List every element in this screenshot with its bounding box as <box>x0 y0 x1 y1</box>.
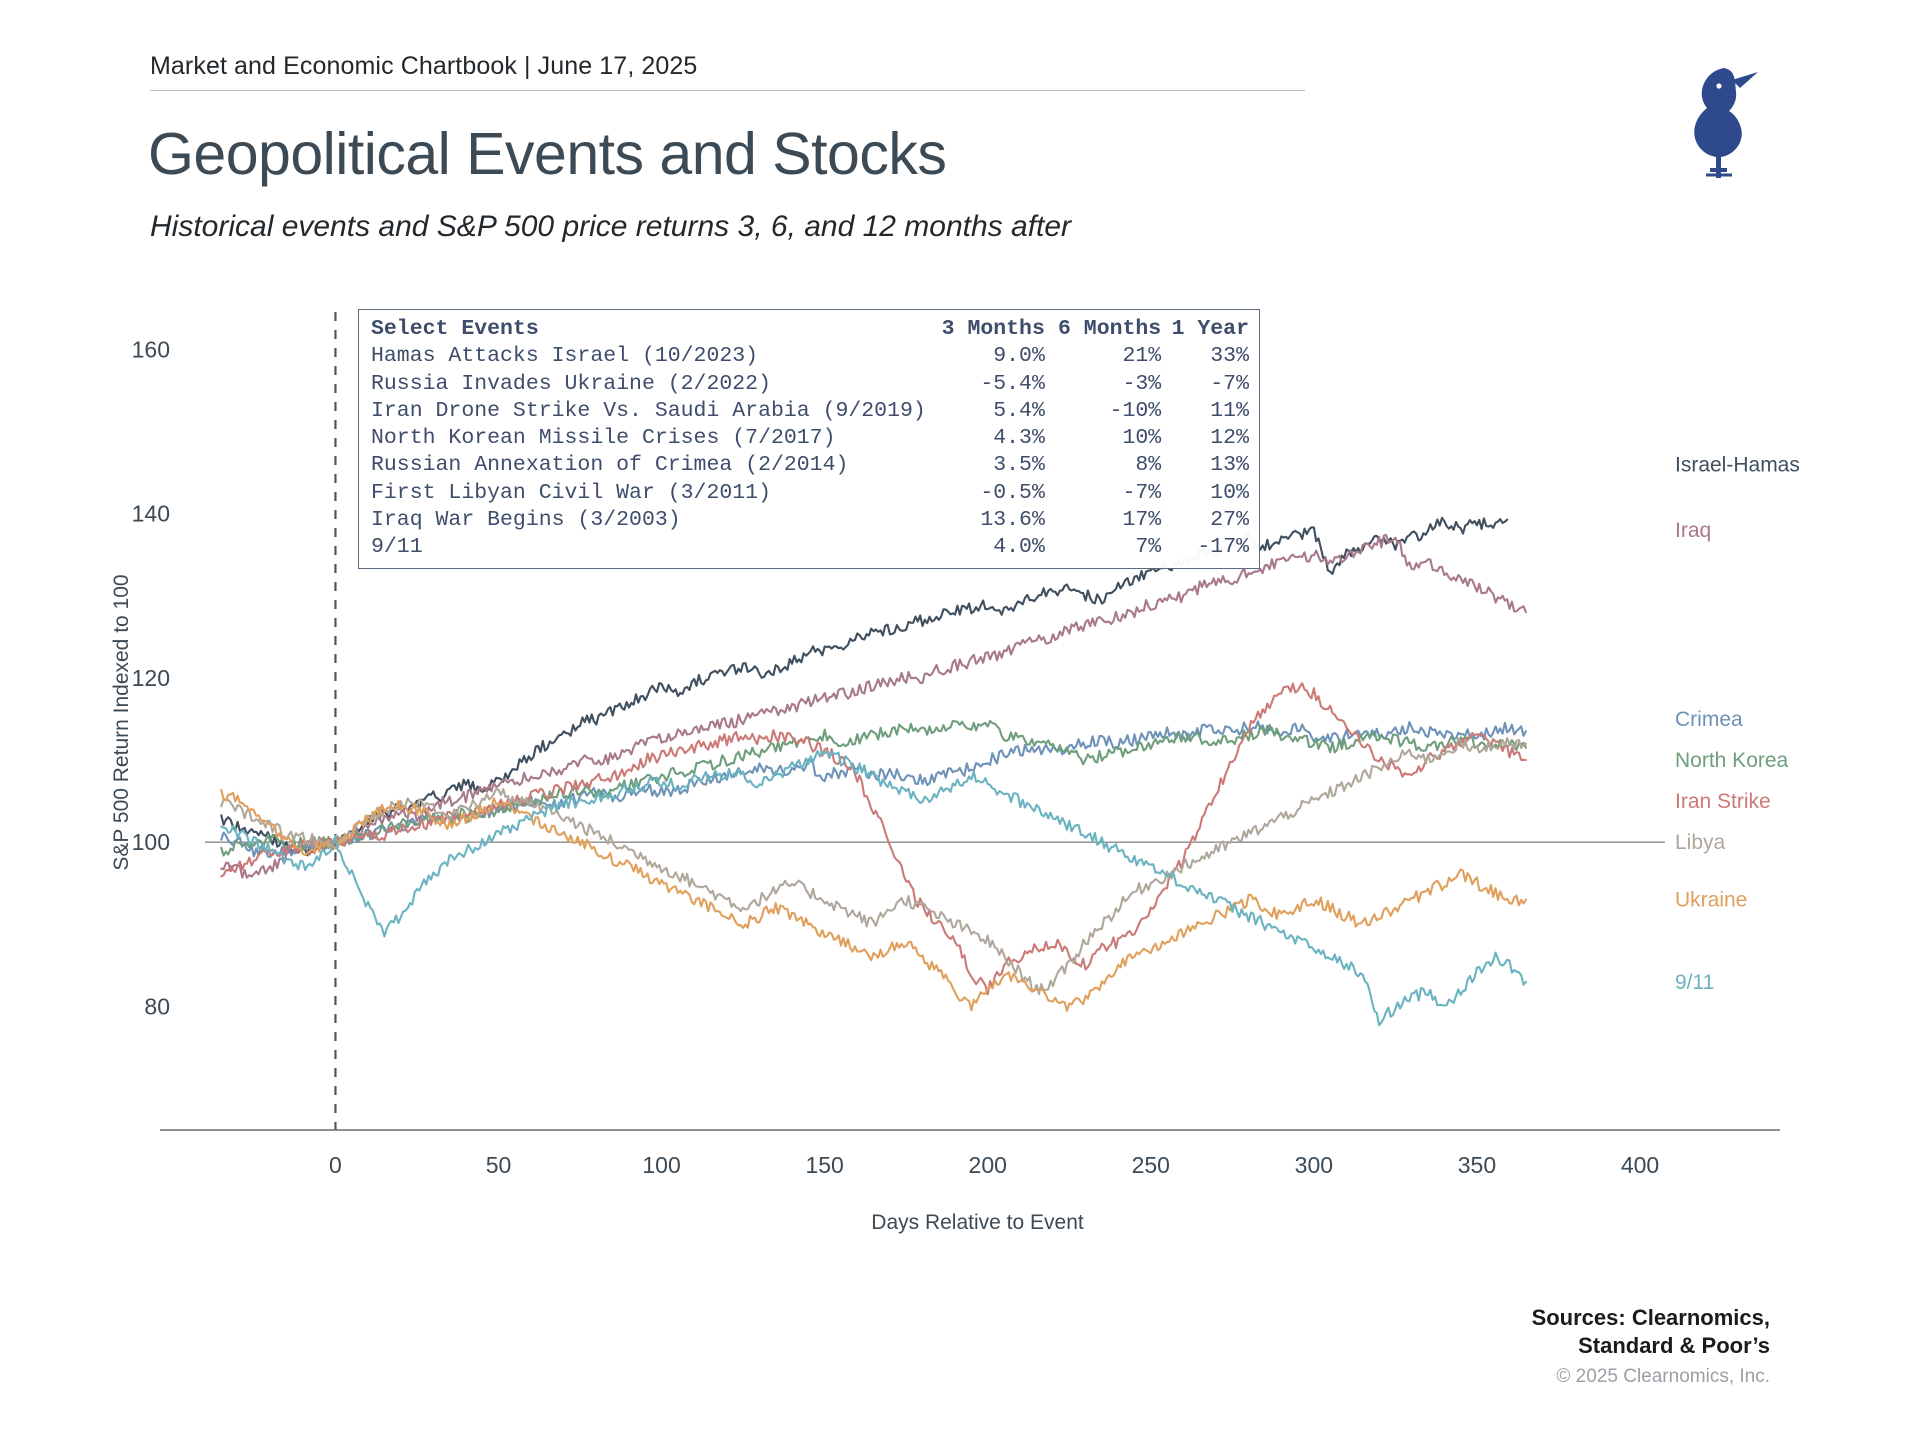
y-tick-label: 120 <box>132 665 170 691</box>
header-band: Market and Economic Chartbook | June 17,… <box>150 52 1305 91</box>
series-label-ukraine: Ukraine <box>1675 889 1747 912</box>
series-label-libya: Libya <box>1675 831 1726 854</box>
series-label-israel-hamas: Israel-Hamas <box>1675 453 1800 476</box>
y-tick-label: 100 <box>132 829 170 855</box>
table-row: Iran Drone Strike Vs. Saudi Arabia (9/20… <box>371 398 1249 425</box>
series-label-north-korea: North Korea <box>1675 749 1789 772</box>
cell-event: Iran Drone Strike Vs. Saudi Arabia (9/20… <box>371 398 926 425</box>
cell-m6: 21% <box>1045 343 1161 370</box>
table-row: First Libyan Civil War (3/2011)-0.5%-7%1… <box>371 480 1249 507</box>
x-axis-title: Days Relative to Event <box>871 1211 1084 1234</box>
series-label-9-11: 9/11 <box>1675 971 1714 994</box>
y-tick-label: 160 <box>132 336 170 362</box>
series-line-ukraine <box>221 790 1526 1011</box>
cell-m3: 3.5% <box>926 452 1045 479</box>
cell-event: 9/11 <box>371 534 926 561</box>
col-header-1-year: 1 Year <box>1161 316 1249 343</box>
events-table-body: Hamas Attacks Israel (10/2023)9.0%21%33%… <box>371 343 1249 561</box>
x-tick-label: 250 <box>1132 1152 1170 1178</box>
cell-y1: 27% <box>1161 507 1249 534</box>
series-line-iran-strike <box>221 683 1526 994</box>
cell-y1: 11% <box>1161 398 1249 425</box>
events-table-grid: Select Events 3 Months 6 Months 1 Year H… <box>371 316 1249 562</box>
table-row: 9/114.0%7%-17% <box>371 534 1249 561</box>
cell-event: Iraq War Begins (3/2003) <box>371 507 926 534</box>
x-tick-label: 0 <box>329 1152 342 1178</box>
cell-event: Russian Annexation of Crimea (2/2014) <box>371 452 926 479</box>
x-tick-label: 300 <box>1295 1152 1333 1178</box>
cell-m6: 8% <box>1045 452 1161 479</box>
sources-line-2: Standard & Poor’s <box>1532 1332 1770 1360</box>
cell-y1: -17% <box>1161 534 1249 561</box>
cell-event: First Libyan Civil War (3/2011) <box>371 480 926 507</box>
table-row: Hamas Attacks Israel (10/2023)9.0%21%33% <box>371 343 1249 370</box>
cell-m3: -0.5% <box>926 480 1045 507</box>
x-tick-label: 400 <box>1621 1152 1659 1178</box>
cell-m6: 17% <box>1045 507 1161 534</box>
table-row: Russian Annexation of Crimea (2/2014)3.5… <box>371 452 1249 479</box>
y-tick-label: 80 <box>144 993 170 1019</box>
series-line-libya <box>221 738 1526 994</box>
table-row: North Korean Missile Crises (7/2017)4.3%… <box>371 425 1249 452</box>
footer: Sources: Clearnomics, Standard & Poor’s … <box>1532 1304 1770 1388</box>
cell-y1: -7% <box>1161 371 1249 398</box>
cell-y1: 33% <box>1161 343 1249 370</box>
x-tick-label: 350 <box>1458 1152 1496 1178</box>
series-line-crimea <box>221 721 1526 857</box>
y-axis-title: S&P 500 Return Indexed to 100 <box>110 574 133 870</box>
col-header-3-months: 3 Months <box>926 316 1045 343</box>
table-row: Iraq War Begins (3/2003)13.6%17%27% <box>371 507 1249 534</box>
y-tick-label: 140 <box>132 501 170 527</box>
cell-m3: -5.4% <box>926 371 1045 398</box>
series-label-iraq: Iraq <box>1675 519 1711 542</box>
table-row: Russia Invades Ukraine (2/2022)-5.4%-3%-… <box>371 371 1249 398</box>
cell-event: North Korean Missile Crises (7/2017) <box>371 425 926 452</box>
x-tick-label: 100 <box>642 1152 680 1178</box>
cell-m3: 4.3% <box>926 425 1045 452</box>
cell-event: Hamas Attacks Israel (10/2023) <box>371 343 926 370</box>
col-header-events: Select Events <box>371 316 926 343</box>
cell-y1: 12% <box>1161 425 1249 452</box>
cell-y1: 13% <box>1161 452 1249 479</box>
cell-m6: 10% <box>1045 425 1161 452</box>
page-subtitle: Historical events and S&P 500 price retu… <box>150 210 1071 244</box>
col-header-6-months: 6 Months <box>1045 316 1161 343</box>
header-divider <box>150 90 1305 91</box>
select-events-table: Select Events 3 Months 6 Months 1 Year H… <box>358 309 1260 569</box>
cell-m3: 13.6% <box>926 507 1045 534</box>
cell-m3: 9.0% <box>926 343 1045 370</box>
cell-m6: 7% <box>1045 534 1161 561</box>
cell-m6: -10% <box>1045 398 1161 425</box>
sources-line-1: Sources: Clearnomics, <box>1532 1304 1770 1332</box>
series-label-iran-strike: Iran Strike <box>1675 790 1771 813</box>
x-tick-label: 150 <box>805 1152 843 1178</box>
chartbook-label: Market and Economic Chartbook | June 17,… <box>150 52 1305 81</box>
series-line-north-korea <box>221 721 1526 855</box>
copyright-notice: © 2025 Clearnomics, Inc. <box>1532 1366 1770 1388</box>
page-title: Geopolitical Events and Stocks <box>148 120 946 188</box>
x-tick-label: 50 <box>486 1152 512 1178</box>
series-line-iraq <box>221 535 1526 878</box>
cell-y1: 10% <box>1161 480 1249 507</box>
x-tick-label: 200 <box>969 1152 1007 1178</box>
series-label-crimea: Crimea <box>1675 708 1743 731</box>
cell-m6: -7% <box>1045 480 1161 507</box>
table-header-row: Select Events 3 Months 6 Months 1 Year <box>371 316 1249 343</box>
cell-event: Russia Invades Ukraine (2/2022) <box>371 371 926 398</box>
cell-m6: -3% <box>1045 371 1161 398</box>
cell-m3: 4.0% <box>926 534 1045 561</box>
heron-logo <box>1662 62 1772 180</box>
series-line-9-11 <box>221 751 1526 1025</box>
cell-m3: 5.4% <box>926 398 1045 425</box>
